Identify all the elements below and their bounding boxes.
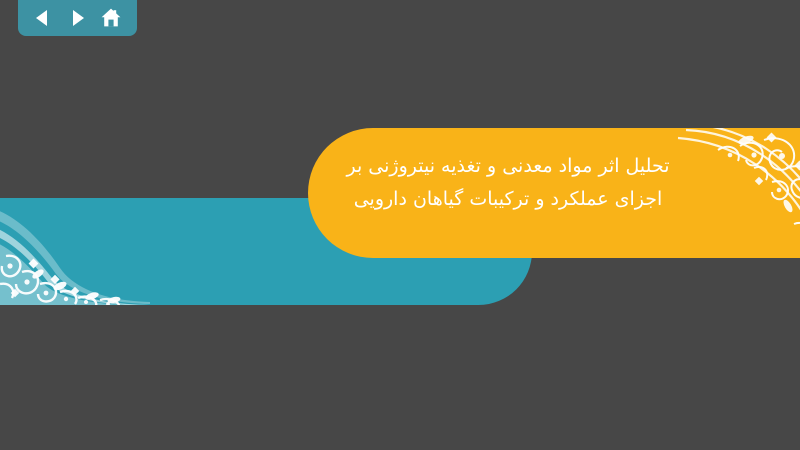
previous-slide-button[interactable] <box>28 3 58 33</box>
slide-canvas: تحلیل اثر مواد معدنی و تغذیه نیتروژنی بر… <box>0 0 800 450</box>
home-button[interactable] <box>96 3 126 33</box>
page-title: تحلیل اثر مواد معدنی و تغذیه نیتروژنی بر… <box>318 150 698 217</box>
triangle-left-icon <box>32 7 54 29</box>
triangle-right-icon <box>66 7 88 29</box>
home-icon <box>99 6 123 30</box>
next-slide-button[interactable] <box>62 3 92 33</box>
slide-navigation-bar <box>18 0 137 36</box>
